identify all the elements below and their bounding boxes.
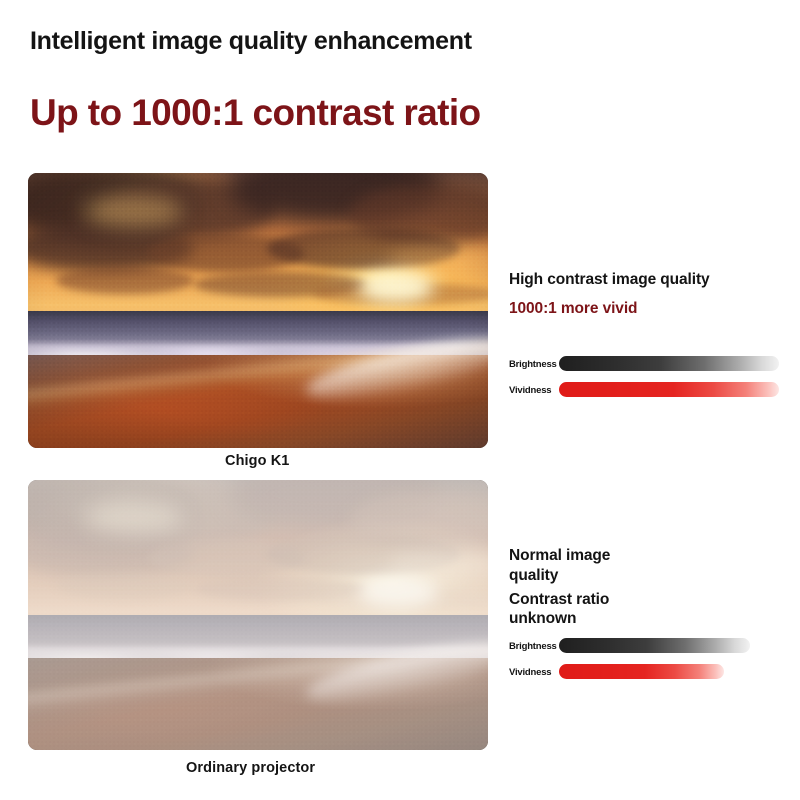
meter-bar-brightness xyxy=(559,638,750,653)
photo-ordinary xyxy=(28,480,488,750)
info-subtitle: Contrast ratio unknown xyxy=(509,590,637,630)
caption-high-contrast: Chigo K1 xyxy=(225,453,289,469)
meter-bar-brightness xyxy=(559,356,779,371)
meter-bar-vividness xyxy=(559,382,779,397)
page-headline: Intelligent image quality enhancement xyxy=(30,27,472,56)
meter-label-brightness: Brightness xyxy=(509,641,557,652)
meter-row-brightness: Brightness xyxy=(509,636,789,662)
scene-vivid-sunset xyxy=(28,173,488,448)
meter-row-vividness: Vividness xyxy=(509,662,789,688)
photo-high-contrast xyxy=(28,173,488,448)
scene-washed-sunset xyxy=(28,480,488,750)
info-block-ordinary: Normal image quality Contrast ratio unkn… xyxy=(509,546,789,629)
meter-label-brightness: Brightness xyxy=(509,359,557,370)
page-subheadline: Up to 1000:1 contrast ratio xyxy=(30,92,481,134)
meter-bar-vividness xyxy=(559,664,724,679)
meter-label-vividness: Vividness xyxy=(509,385,551,396)
info-title: High contrast image quality xyxy=(509,270,789,290)
meter-group-ordinary: Brightness Vividness xyxy=(509,636,789,688)
meter-row-vividness: Vividness xyxy=(509,380,789,406)
meter-group-high-contrast: Brightness Vividness xyxy=(509,354,789,406)
promo-page: Intelligent image quality enhancement Up… xyxy=(0,0,800,800)
info-title: Normal image quality xyxy=(509,546,637,586)
meter-row-brightness: Brightness xyxy=(509,354,789,380)
caption-ordinary: Ordinary projector xyxy=(186,760,315,776)
info-subtitle: 1000:1 more vivid xyxy=(509,299,789,319)
vignette-overlay xyxy=(28,480,488,750)
meter-label-vividness: Vividness xyxy=(509,667,551,678)
vignette-overlay xyxy=(28,173,488,448)
info-block-high-contrast: High contrast image quality 1000:1 more … xyxy=(509,270,789,319)
